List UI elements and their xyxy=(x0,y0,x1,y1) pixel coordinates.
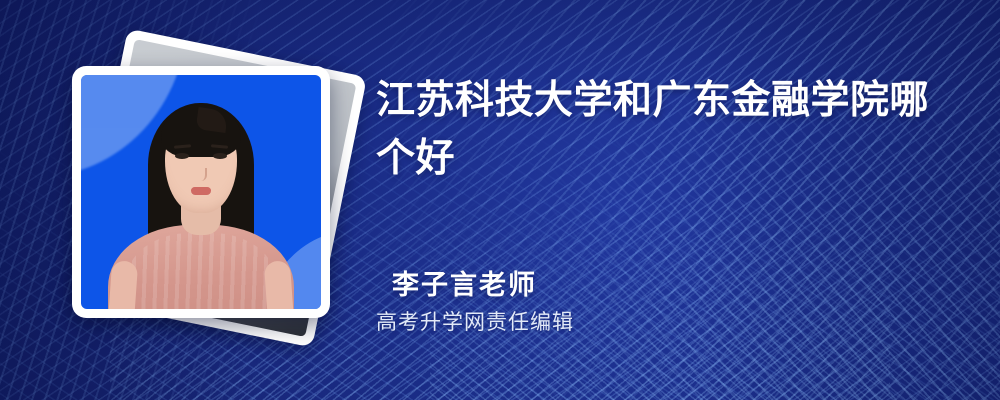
article-cover-banner: 江苏科技大学和广东金融学院哪个好 李子言老师 高考升学网责任编辑 xyxy=(0,0,1000,400)
banner-content: 江苏科技大学和广东金融学院哪个好 李子言老师 高考升学网责任编辑 xyxy=(0,0,1000,400)
author-name: 李子言老师 xyxy=(392,268,574,302)
author-block: 李子言老师 高考升学网责任编辑 xyxy=(376,268,574,338)
banner-title: 江苏科技大学和广东金融学院哪个好 xyxy=(376,72,956,188)
author-role: 高考升学网责任编辑 xyxy=(376,308,574,338)
